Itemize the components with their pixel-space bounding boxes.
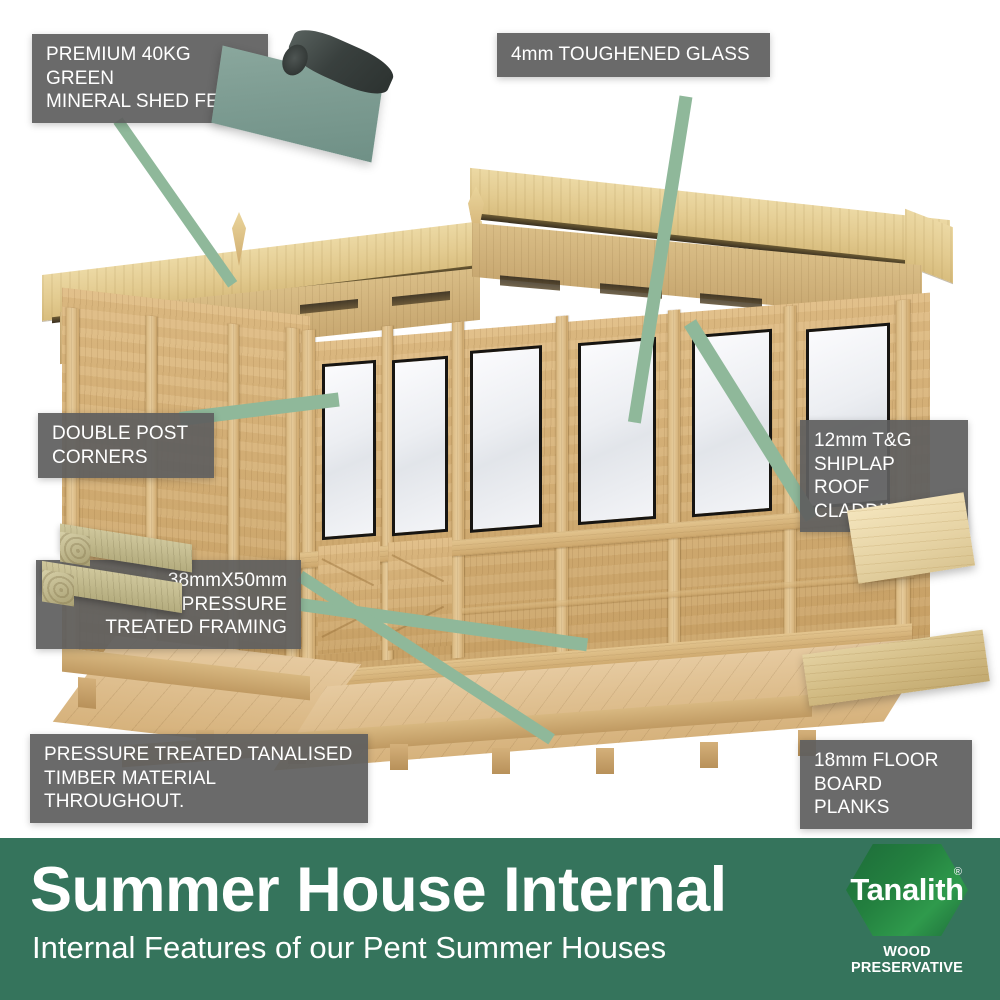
floor-bearer xyxy=(390,744,408,770)
callout-cladding-line-2: SHIPLAP ROOF xyxy=(814,453,954,500)
wall-stud xyxy=(668,310,680,651)
window-pane-1 xyxy=(470,345,542,533)
door-glass-pane-left xyxy=(322,360,376,540)
floor-bearer xyxy=(700,742,718,768)
callout-floor-line-2: BOARD PLANKS xyxy=(814,773,958,820)
double-post-corner-b xyxy=(302,329,315,666)
callout-floor-planks: 18mm FLOOR BOARD PLANKS xyxy=(800,740,972,829)
batten-upper-end-grain xyxy=(60,532,90,567)
shiplap-board-face xyxy=(847,492,975,584)
registered-trademark-icon: ® xyxy=(954,866,962,878)
callout-glass: 4mm TOUGHENED GLASS xyxy=(497,33,770,77)
logo-tagline: WOOD PRESERVATIVE xyxy=(832,944,982,976)
callout-corners-line-1: DOUBLE POST xyxy=(52,422,200,446)
floor-bearer xyxy=(78,677,96,709)
inset-shiplap-board xyxy=(850,495,980,591)
callout-timber-line-2: TIMBER MATERIAL THROUGHOUT. xyxy=(44,767,354,814)
tanalith-logo: Tanalith ® WOOD PRESERVATIVE xyxy=(832,844,982,980)
door-glass-pane-right xyxy=(392,356,448,537)
floor-bearer xyxy=(492,748,510,774)
inset-roof-felt-roll xyxy=(215,38,405,168)
floor-plank-face xyxy=(802,630,989,707)
callout-corners-line-2: CORNERS xyxy=(52,446,200,470)
callout-tanalised-timber: PRESSURE TREATED TANALISED TIMBER MATERI… xyxy=(30,734,368,823)
page-title: Summer House Internal xyxy=(30,854,727,926)
callout-double-post-corners: DOUBLE POST CORNERS xyxy=(38,413,214,478)
inset-floor-plank xyxy=(805,630,995,730)
callout-floor-line-1: 18mm FLOOR xyxy=(814,749,958,773)
callout-glass-line-1: 4mm TOUGHENED GLASS xyxy=(511,43,756,67)
hex-badge: Tanalith ® xyxy=(846,844,968,936)
bottom-banner: Summer House Internal Internal Features … xyxy=(0,838,1000,1000)
callout-cladding-line-1: 12mm T&G xyxy=(814,429,954,453)
floor-bearer xyxy=(596,748,614,774)
callout-timber-line-1: PRESSURE TREATED TANALISED xyxy=(44,743,354,767)
page-subtitle: Internal Features of our Pent Summer Hou… xyxy=(32,930,666,966)
inset-timber-battens xyxy=(38,528,198,638)
infographic-canvas: PREMIUM 40KG GREEN MINERAL SHED FELT 4mm… xyxy=(0,0,1000,1000)
batten-lower-end-grain xyxy=(42,569,74,606)
logo-wordmark: Tanalith xyxy=(846,844,968,936)
